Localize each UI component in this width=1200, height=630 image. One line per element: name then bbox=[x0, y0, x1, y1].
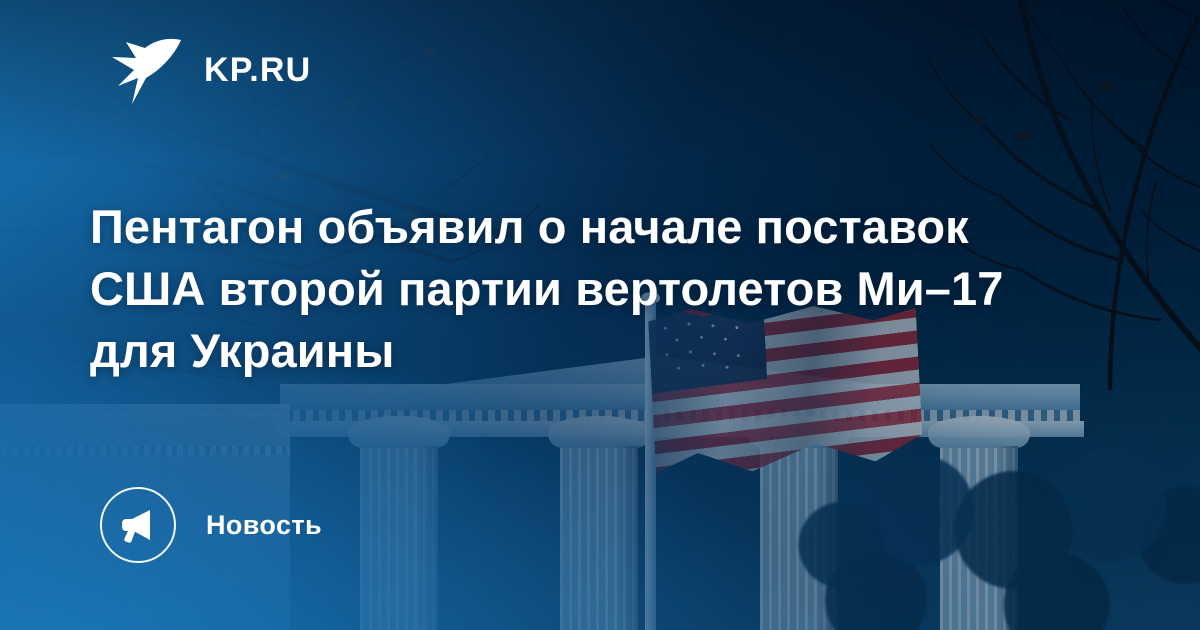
card-content: KP.RU Пентагон объявил о начале поставок… bbox=[0, 0, 1200, 630]
brand-logo[interactable]: KP.RU bbox=[108, 34, 311, 106]
category-icon-circle bbox=[100, 487, 176, 563]
swallow-bird-icon bbox=[108, 34, 182, 106]
news-share-card: KP.RU Пентагон объявил о начале поставок… bbox=[0, 0, 1200, 630]
page-title: Пентагон объявил о начале поставок США в… bbox=[90, 196, 1035, 382]
megaphone-icon bbox=[118, 505, 158, 545]
category-badge[interactable]: Новость bbox=[100, 487, 322, 563]
brand-name: KP.RU bbox=[204, 53, 311, 87]
category-label: Новость bbox=[206, 512, 322, 539]
